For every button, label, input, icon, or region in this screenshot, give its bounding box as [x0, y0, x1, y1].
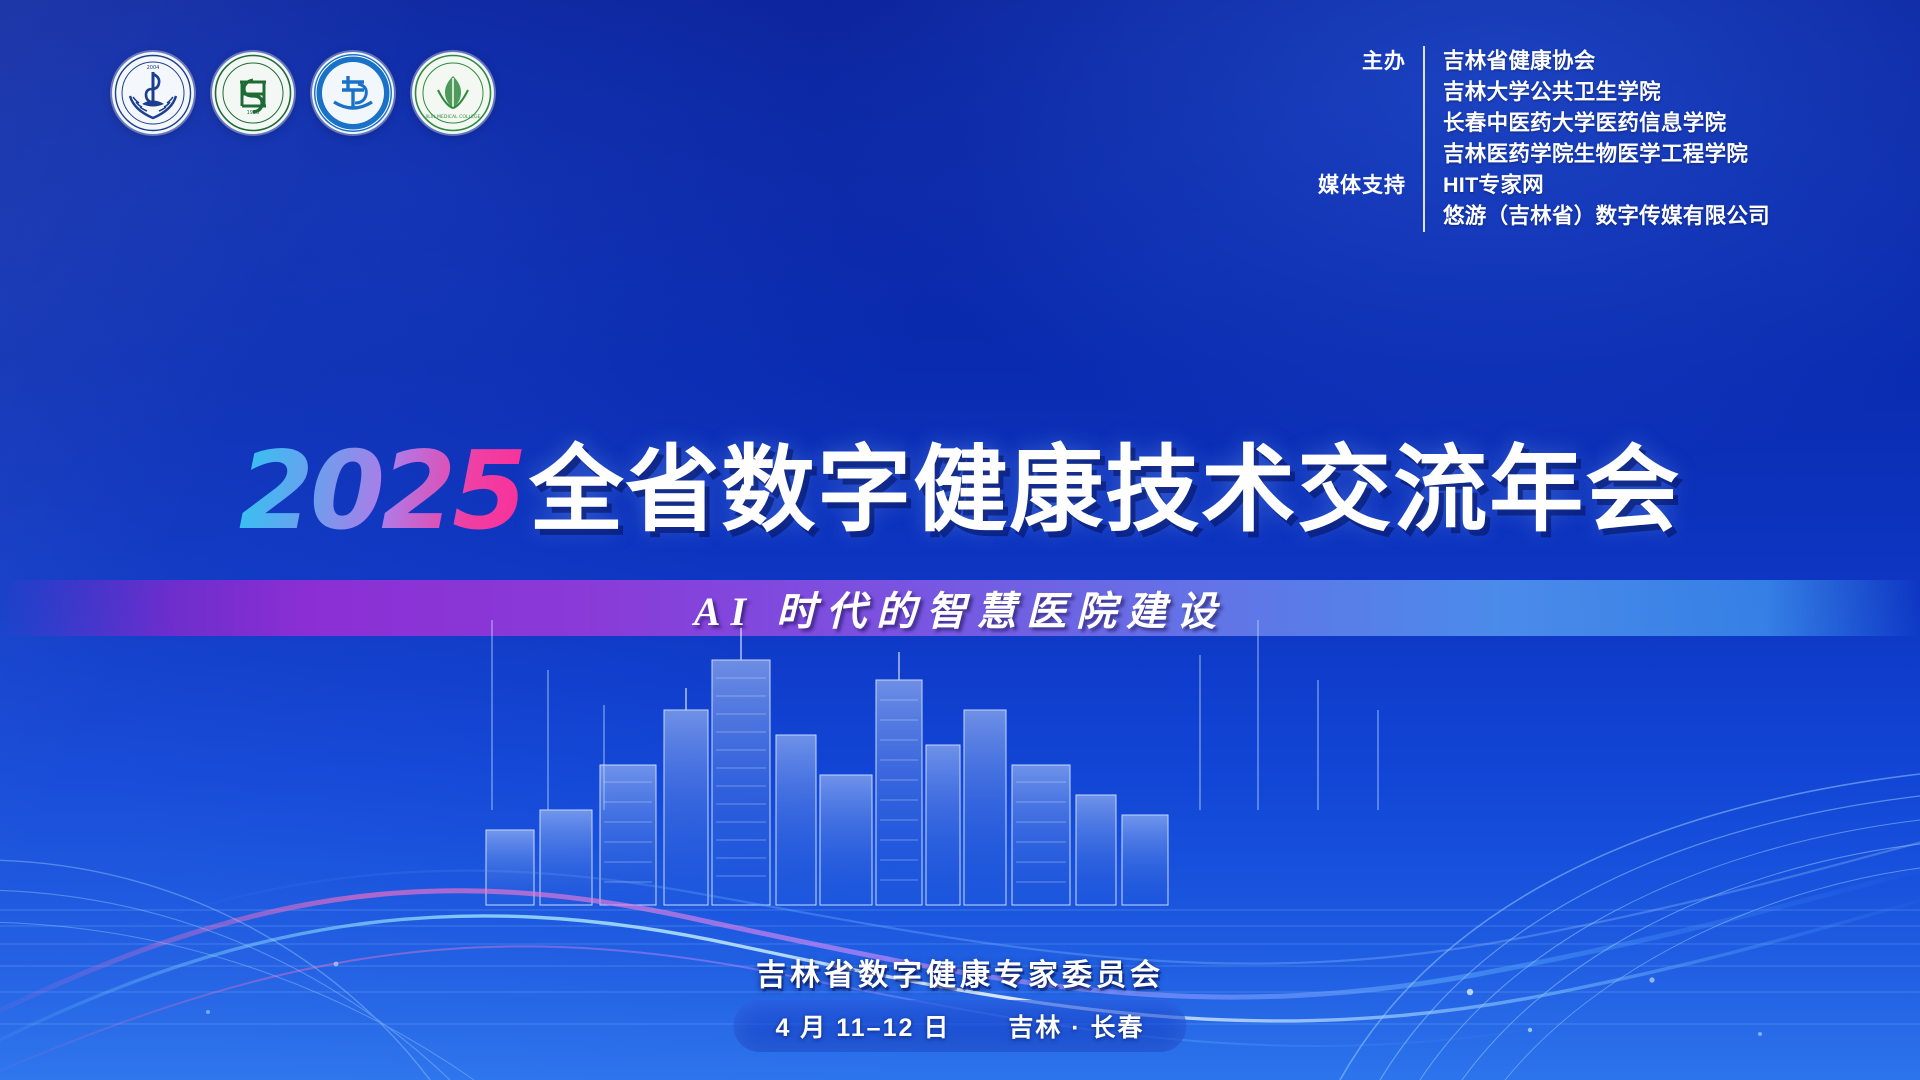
host-row: 主办 吉林省健康协会 吉林大学公共卫生学院 长春中医药大学医药信息学院 吉林医药…	[1301, 46, 1770, 170]
credits-block: 主办 吉林省健康协会 吉林大学公共卫生学院 长春中医药大学医药信息学院 吉林医药…	[1301, 46, 1770, 232]
media-item: HIT专家网	[1443, 170, 1770, 201]
host-list: 吉林省健康协会 吉林大学公共卫生学院 长春中医药大学医药信息学院 吉林医药学院生…	[1423, 46, 1748, 170]
event-date: 4 月 11–12 日	[775, 1008, 950, 1044]
host-item: 长春中医药大学医药信息学院	[1443, 108, 1748, 139]
svg-text:1958: 1958	[247, 110, 260, 116]
event-location: 吉林 · 长春	[1008, 1008, 1144, 1044]
committee-name: 吉林省数字健康专家委员会	[0, 950, 1920, 994]
host-label: 主办	[1301, 46, 1423, 77]
media-row: 媒体支持 HIT专家网 悠游（吉林省）数字传媒有限公司	[1301, 170, 1770, 232]
host-item: 吉林省健康协会	[1443, 46, 1748, 77]
conference-poster: 2004 1958	[0, 0, 1920, 1080]
media-item: 悠游（吉林省）数字传媒有限公司	[1443, 201, 1770, 232]
svg-text:JILIN MEDICAL COLLEGE: JILIN MEDICAL COLLEGE	[425, 114, 481, 120]
media-list: HIT专家网 悠游（吉林省）数字传媒有限公司	[1423, 170, 1770, 232]
headline-block: 2025 全省数字健康技术交流年会	[0, 438, 1920, 537]
svg-text:2004: 2004	[147, 65, 160, 71]
changchun-university-chinese-medicine-logo	[312, 52, 394, 134]
organizer-logo-row: 2004 1958	[112, 52, 494, 134]
event-meta-pill: 4 月 11–12 日 吉林 · 长春	[733, 1000, 1186, 1052]
headline-year: 2025	[239, 442, 530, 541]
host-item: 吉林大学公共卫生学院	[1443, 77, 1748, 108]
jilin-health-association-logo: 2004	[112, 52, 194, 134]
jilin-university-public-health-logo: 1958	[212, 52, 294, 134]
media-label: 媒体支持	[1301, 170, 1423, 201]
host-item: 吉林医药学院生物医学工程学院	[1443, 139, 1748, 170]
jilin-medical-college-logo: JILIN MEDICAL COLLEGE	[412, 52, 494, 134]
headline-title: 全省数字健康技术交流年会	[529, 443, 1681, 537]
